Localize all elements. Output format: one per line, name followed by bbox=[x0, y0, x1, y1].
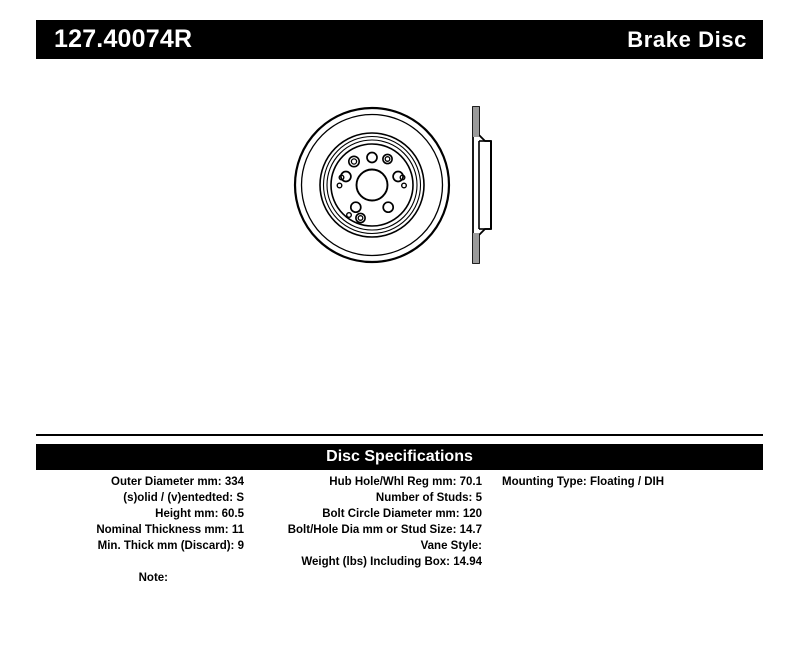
spec-label: Bolt Circle Diameter mm: bbox=[322, 508, 459, 520]
rotor-face-view bbox=[292, 105, 452, 270]
stud-hole-group bbox=[341, 153, 403, 213]
spec-section-header: Disc Specifications bbox=[36, 444, 763, 470]
rotor-edge-cross-section bbox=[461, 105, 505, 270]
spec-value: Floating / DIH bbox=[590, 476, 664, 488]
spec-label: Weight (lbs) Including Box: bbox=[301, 556, 450, 568]
spec-label: Bolt/Hole Dia mm or Stud Size: bbox=[288, 524, 457, 536]
spec-table: Outer Diameter mm: 334 (s)olid / (v)ente… bbox=[36, 474, 763, 570]
hub-center-hole bbox=[357, 170, 388, 201]
spec-column-middle: Hub Hole/Whl Reg mm: 70.1 Number of Stud… bbox=[244, 474, 482, 570]
spec-label: (s)olid / (v)entedted: bbox=[123, 492, 233, 504]
part-number: 127.40074R bbox=[54, 27, 192, 52]
spec-section-title: Disc Specifications bbox=[326, 449, 473, 465]
spec-label: Number of Studs: bbox=[376, 492, 472, 504]
rotor-edge-diagram bbox=[461, 105, 505, 265]
spec-row: Mounting Type: Floating / DIH bbox=[502, 474, 763, 490]
spec-value: 70.1 bbox=[460, 476, 482, 488]
rotor-face-diagram bbox=[292, 105, 452, 265]
spec-value: 5 bbox=[476, 492, 482, 504]
spec-row: (s)olid / (v)entedted: S bbox=[36, 490, 244, 506]
spec-column-left: Outer Diameter mm: 334 (s)olid / (v)ente… bbox=[36, 474, 244, 554]
spec-label: Vane Style: bbox=[421, 540, 482, 552]
spec-row: Vane Style: bbox=[250, 538, 482, 554]
spec-value: 60.5 bbox=[222, 508, 244, 520]
spec-value: S bbox=[236, 492, 244, 504]
spec-value: 334 bbox=[225, 476, 244, 488]
title-bar: 127.40074R Brake Disc bbox=[36, 20, 763, 59]
spec-column-right: Mounting Type: Floating / DIH bbox=[482, 474, 763, 490]
note-label: Note: bbox=[36, 570, 168, 586]
spec-row: Number of Studs: 5 bbox=[250, 490, 482, 506]
spec-label: Height mm: bbox=[155, 508, 218, 520]
spec-value: 14.94 bbox=[453, 556, 482, 568]
spec-label: Mounting Type: bbox=[502, 476, 587, 488]
rotor-flange-shade-bottom bbox=[473, 233, 479, 263]
spec-row: Bolt/Hole Dia mm or Stud Size: 14.7 bbox=[250, 522, 482, 538]
spec-row: Bolt Circle Diameter mm: 120 bbox=[250, 506, 482, 522]
spec-label: Min. Thick mm (Discard): bbox=[98, 540, 235, 552]
spec-row: Height mm: 60.5 bbox=[36, 506, 244, 522]
note-row: Note: bbox=[36, 570, 763, 586]
spec-label: Nominal Thickness mm: bbox=[96, 524, 228, 536]
technical-drawing-area bbox=[36, 80, 763, 410]
spec-row: Nominal Thickness mm: 11 bbox=[36, 522, 244, 538]
spec-value: 11 bbox=[232, 524, 244, 536]
spec-value: 14.7 bbox=[460, 524, 482, 536]
section-divider bbox=[36, 434, 763, 436]
spec-value: 120 bbox=[463, 508, 482, 520]
spec-row: Outer Diameter mm: 334 bbox=[36, 474, 244, 490]
spec-row: Weight (lbs) Including Box: 14.94 bbox=[250, 554, 482, 570]
rotor-flange-shade-top bbox=[473, 107, 479, 137]
spec-row: Hub Hole/Whl Reg mm: 70.1 bbox=[250, 474, 482, 490]
spec-label: Hub Hole/Whl Reg mm: bbox=[329, 476, 456, 488]
spec-row: Min. Thick mm (Discard): 9 bbox=[36, 538, 244, 554]
spec-label: Outer Diameter mm: bbox=[111, 476, 222, 488]
product-type-label: Brake Disc bbox=[627, 29, 747, 51]
